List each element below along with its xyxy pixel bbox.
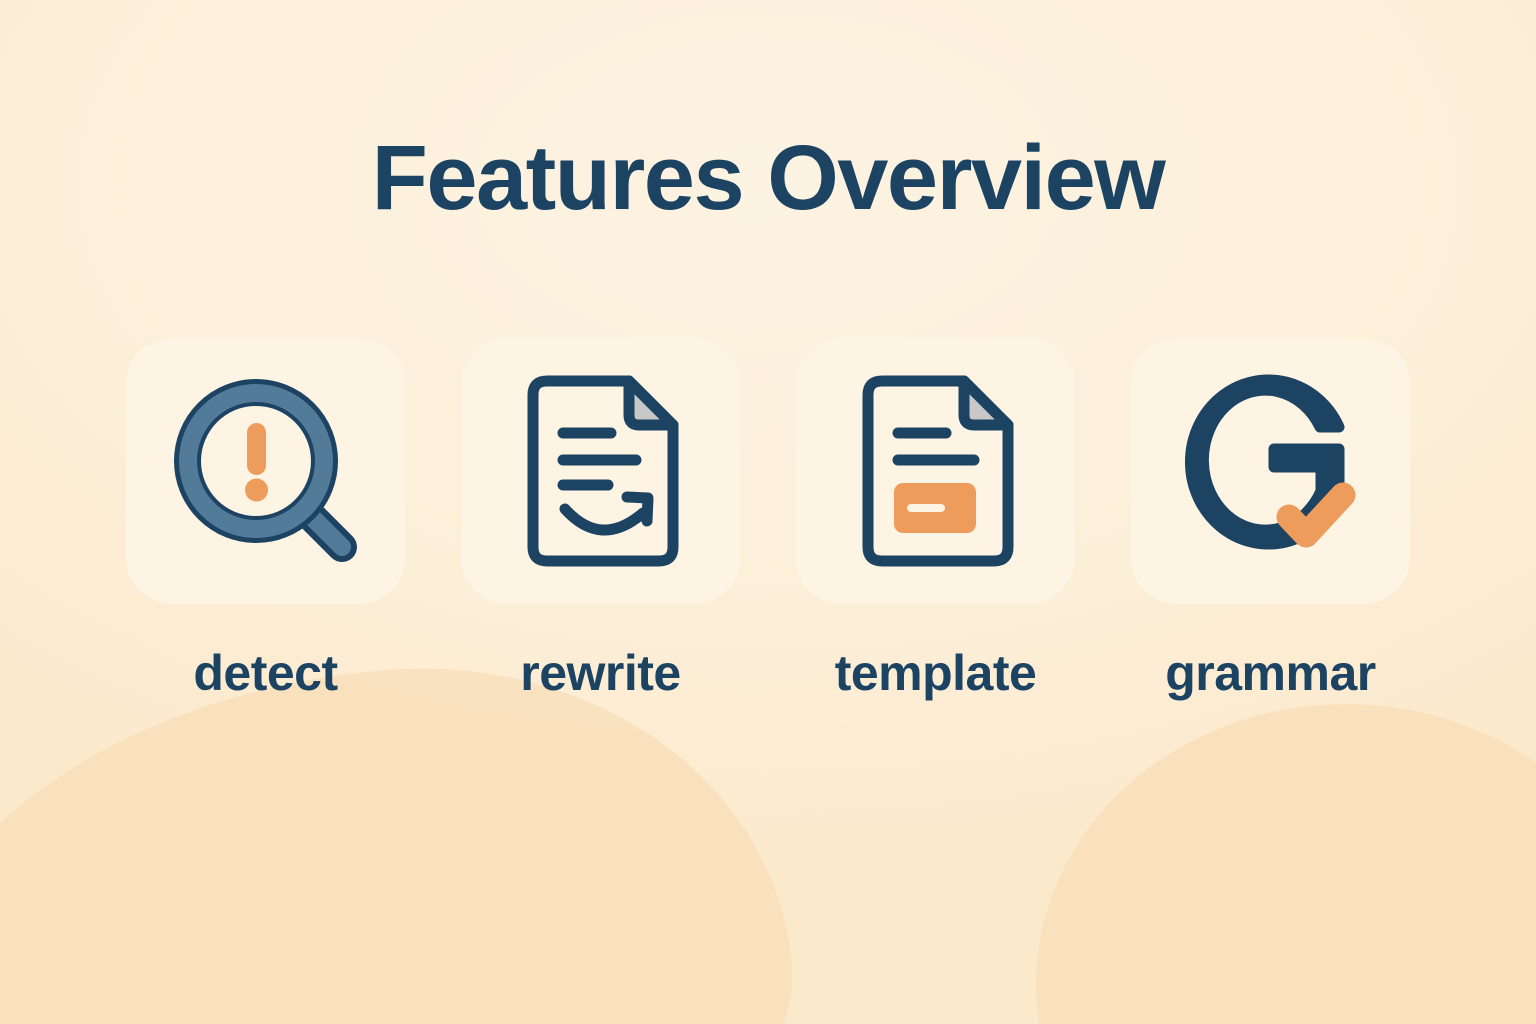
document-rewrite-icon (501, 371, 701, 571)
feature-item-template[interactable]: template (796, 338, 1075, 698)
feature-item-grammar[interactable]: grammar (1131, 338, 1410, 698)
magnifier-alert-icon (166, 371, 366, 571)
letter-g-check-icon (1171, 371, 1371, 571)
icon-card-rewrite[interactable] (461, 338, 740, 604)
feature-label-template: template (835, 648, 1037, 698)
page-title: Features Overview (372, 132, 1165, 224)
icon-card-template[interactable] (796, 338, 1075, 604)
feature-label-grammar: grammar (1165, 648, 1376, 698)
icon-card-detect[interactable] (126, 338, 405, 604)
feature-item-rewrite[interactable]: rewrite (461, 338, 740, 698)
document-template-icon (836, 371, 1036, 571)
feature-label-detect: detect (193, 648, 337, 698)
features-overview-page: Features Overview detect (0, 0, 1536, 1024)
features-row: detect rewrite (126, 338, 1410, 698)
feature-item-detect[interactable]: detect (126, 338, 405, 698)
icon-card-grammar[interactable] (1131, 338, 1410, 604)
feature-label-rewrite: rewrite (520, 648, 680, 698)
